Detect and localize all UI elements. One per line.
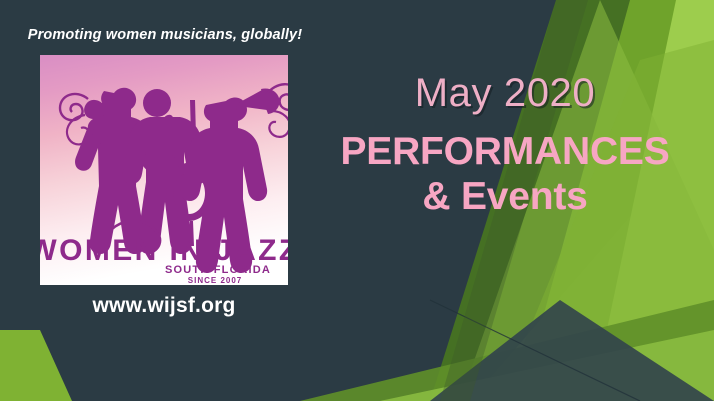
women-in-jazz-logo-artwork: WOMEN IN JAZZ SOUTH FLORIDA SINCE 2007 (40, 55, 288, 285)
decor-shape-lower-sweep (300, 300, 714, 401)
logo-wordmark: WOMEN IN JAZZ (40, 234, 288, 267)
headline-block: May 2020 PERFORMANCES & Events (322, 72, 688, 219)
tagline: Promoting women musicians, globally! (0, 27, 330, 43)
logo-figure-center-head (143, 89, 171, 117)
logo-since: SINCE 2007 (188, 276, 242, 285)
headline-performances: PERFORMANCES (322, 130, 688, 174)
headline-events: & Events (322, 174, 688, 219)
decor-shape-lower-sweep-bright (380, 330, 714, 401)
decor-shape-corner-sliver (0, 330, 72, 401)
decor-shape-navy-seam (430, 300, 714, 401)
logo-region: SOUTH FLORIDA (165, 264, 271, 276)
slide-canvas: Promoting women musicians, globally! (0, 0, 714, 401)
headline-month: May 2020 (322, 72, 688, 114)
decor-seam-line (430, 300, 640, 401)
logo-swirl-right-2 (269, 111, 288, 137)
website-url: www.wijsf.org (40, 294, 288, 318)
logo-card: WOMEN IN JAZZ SOUTH FLORIDA SINCE 2007 (40, 55, 288, 285)
